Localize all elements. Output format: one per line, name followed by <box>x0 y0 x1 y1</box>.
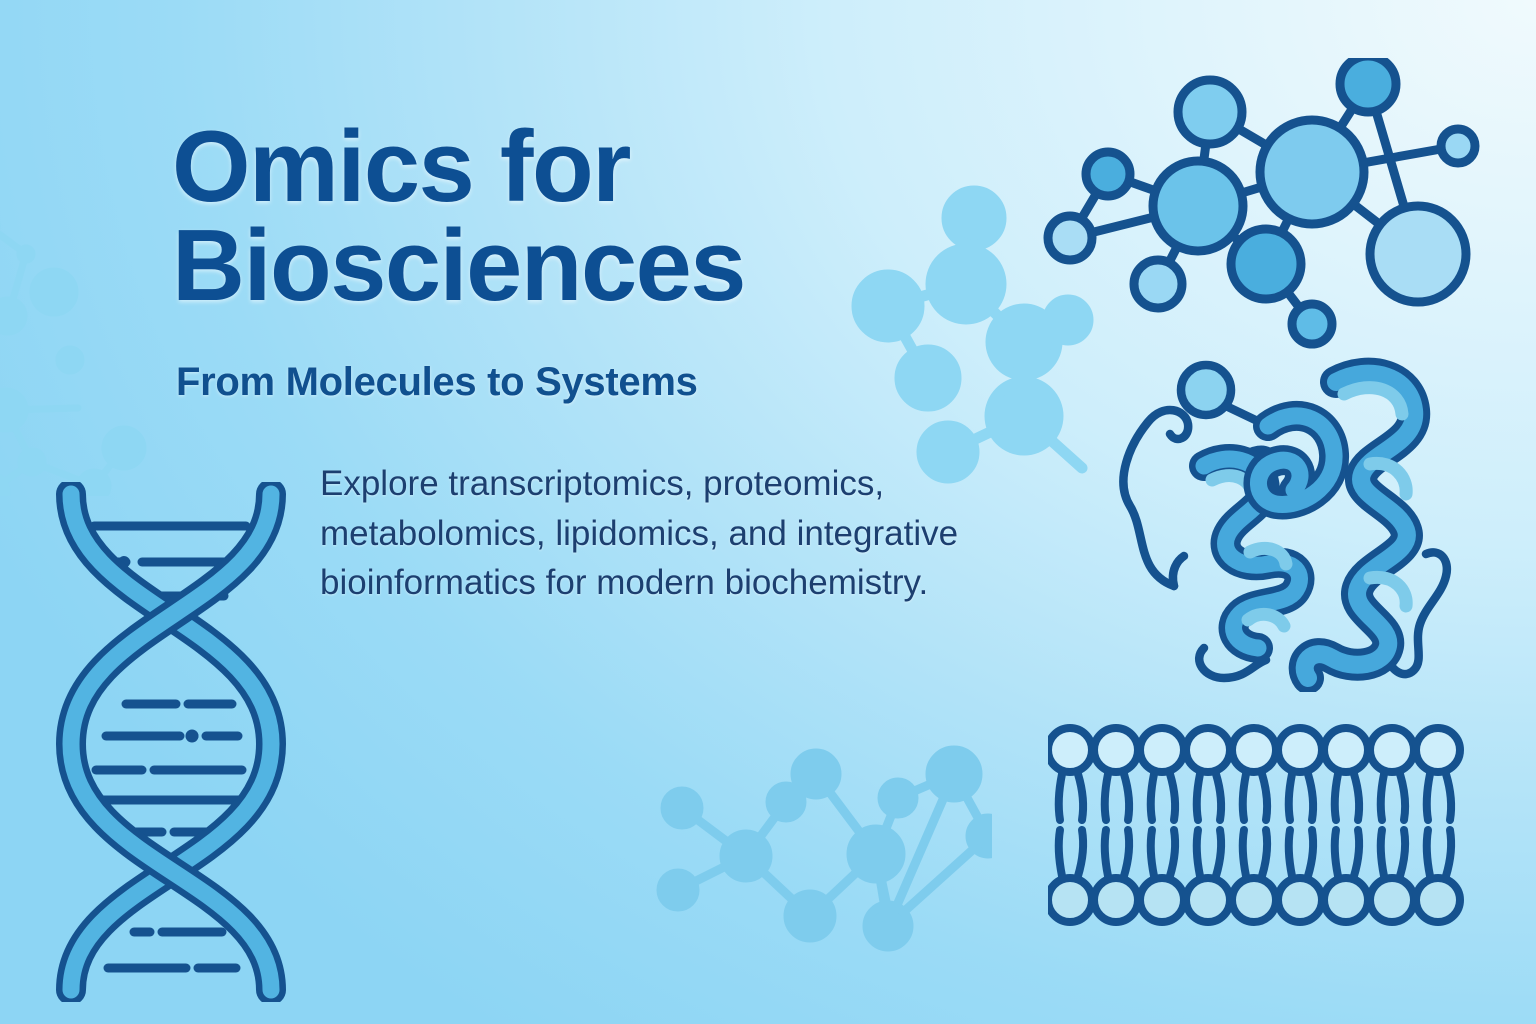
page-subtitle: From Molecules to Systems <box>176 360 962 405</box>
lipid-head <box>1140 878 1184 922</box>
lipid-head <box>1094 878 1138 922</box>
lipid-head <box>1324 878 1368 922</box>
lipid-head <box>1278 728 1322 772</box>
lipid-head <box>1094 728 1138 772</box>
network-node <box>1260 120 1364 224</box>
network-node <box>1178 80 1242 144</box>
lipid-head <box>1416 728 1460 772</box>
page-title: Omics for Biosciences <box>172 118 962 316</box>
title-line-2: Biosciences <box>172 217 962 316</box>
lipid-head <box>1186 878 1230 922</box>
decorative-molecule-bottom-icon <box>648 738 992 966</box>
page-body-text: Explore transcriptomics, proteomics, met… <box>320 459 1110 608</box>
protein-loop-center <box>1258 416 1334 505</box>
network-node <box>1086 152 1130 196</box>
network-node <box>1340 58 1396 112</box>
lipid-leaflet-lower <box>1048 830 1460 922</box>
molecular-network-graph-icon <box>1040 58 1488 352</box>
lipid-head <box>1370 728 1414 772</box>
lipid-head <box>1048 878 1092 922</box>
network-node <box>1370 206 1466 302</box>
lipid-head <box>1186 728 1230 772</box>
dna-dot-lower <box>186 730 199 743</box>
network-node <box>1134 260 1182 308</box>
network-node <box>1441 129 1475 163</box>
lipid-head <box>1232 728 1276 772</box>
lipid-head <box>1324 728 1368 772</box>
protein-ribbon-structure-icon <box>1108 348 1472 692</box>
title-line-1: Omics for <box>172 111 630 223</box>
lipid-head <box>1416 878 1460 922</box>
network-node <box>1048 216 1092 260</box>
lipid-head <box>1370 878 1414 922</box>
decorative-molecule-left-icon <box>0 196 178 496</box>
network-nodes <box>1048 58 1475 344</box>
network-node <box>1292 304 1332 344</box>
lipid-head <box>1140 728 1184 772</box>
lipid-leaflet-upper <box>1048 728 1460 820</box>
lipid-head <box>1048 728 1092 772</box>
lipid-head <box>1278 878 1322 922</box>
lipid-bilayer-icon <box>1048 718 1472 932</box>
omics-poster: Omics for Biosciences From Molecules to … <box>0 0 1536 1024</box>
network-node <box>1153 161 1243 251</box>
network-node <box>1231 229 1301 299</box>
dna-double-helix-icon <box>46 482 296 1002</box>
lipid-head <box>1232 878 1276 922</box>
